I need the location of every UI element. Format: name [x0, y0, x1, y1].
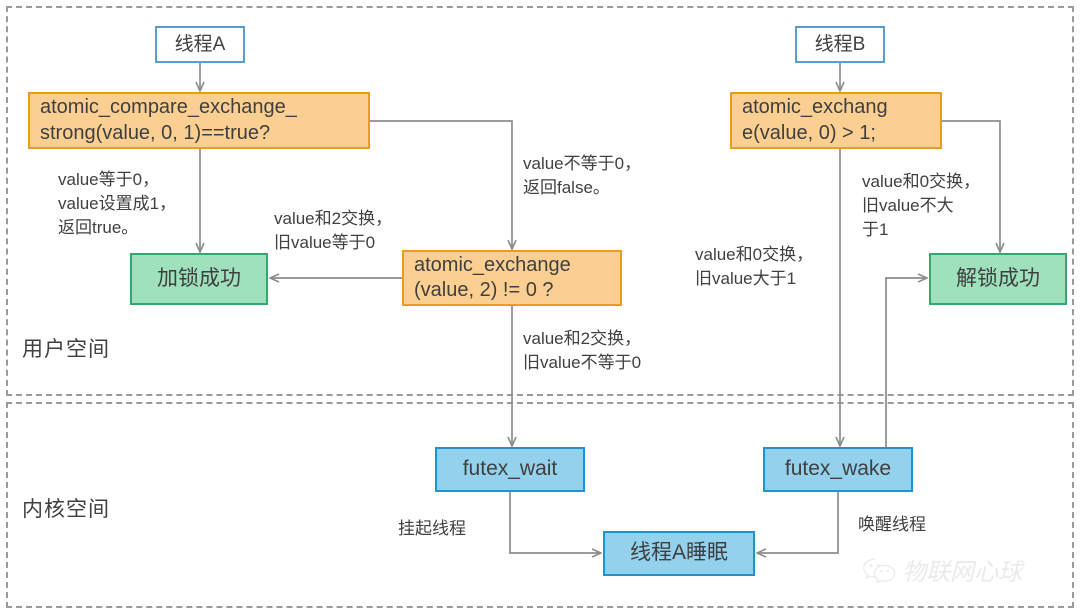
node-thread-a-sleep[interactable]: 线程A睡眠 [603, 531, 755, 576]
node-atomic-exchange-value-2[interactable]: atomic_exchange (value, 2) != 0 ? [402, 250, 622, 306]
watermark-text: 物联网心球 [902, 552, 1022, 587]
node-atomic-exchange-value-0[interactable]: atomic_exchang e(value, 0) > 1; [730, 92, 942, 149]
edge-label-exchange2-ne0: value和2交换， 旧value不等于0 [523, 327, 641, 375]
node-futex-wait[interactable]: futex_wait [435, 447, 585, 492]
node-lock-success[interactable]: 加锁成功 [130, 253, 268, 305]
node-thread-b[interactable]: 线程B [795, 26, 885, 63]
panel-label-kernel-space: 内核空间 [22, 493, 110, 523]
wechat-icon [862, 557, 896, 583]
edge-label-old-value-le-1: value和0交换， 旧value不大 于1 [862, 170, 980, 242]
node-thread-a[interactable]: 线程A [155, 26, 245, 63]
edge-label-wake-thread: 唤醒线程 [858, 513, 926, 537]
watermark: 物联网心球 [862, 552, 1022, 587]
edge-label-exchange2-eq0: value和2交换， 旧value等于0 [274, 207, 392, 255]
node-futex-wake[interactable]: futex_wake [763, 447, 913, 492]
panel-label-user-space: 用户空间 [22, 333, 110, 363]
diagram-canvas: 用户空间 内核空间 [0, 0, 1080, 614]
edge-label-cas-true: value等于0， value设置成1， 返回true。 [58, 168, 176, 240]
edge-label-cas-false: value不等于0， 返回false。 [523, 152, 641, 200]
node-unlock-success[interactable]: 解锁成功 [929, 253, 1067, 305]
node-atomic-compare-exchange-strong[interactable]: atomic_compare_exchange_ strong(value, 0… [28, 92, 370, 149]
edge-label-old-value-gt-1: value和0交换， 旧value大于1 [695, 243, 813, 291]
edge-label-suspend-thread: 挂起线程 [398, 517, 466, 541]
